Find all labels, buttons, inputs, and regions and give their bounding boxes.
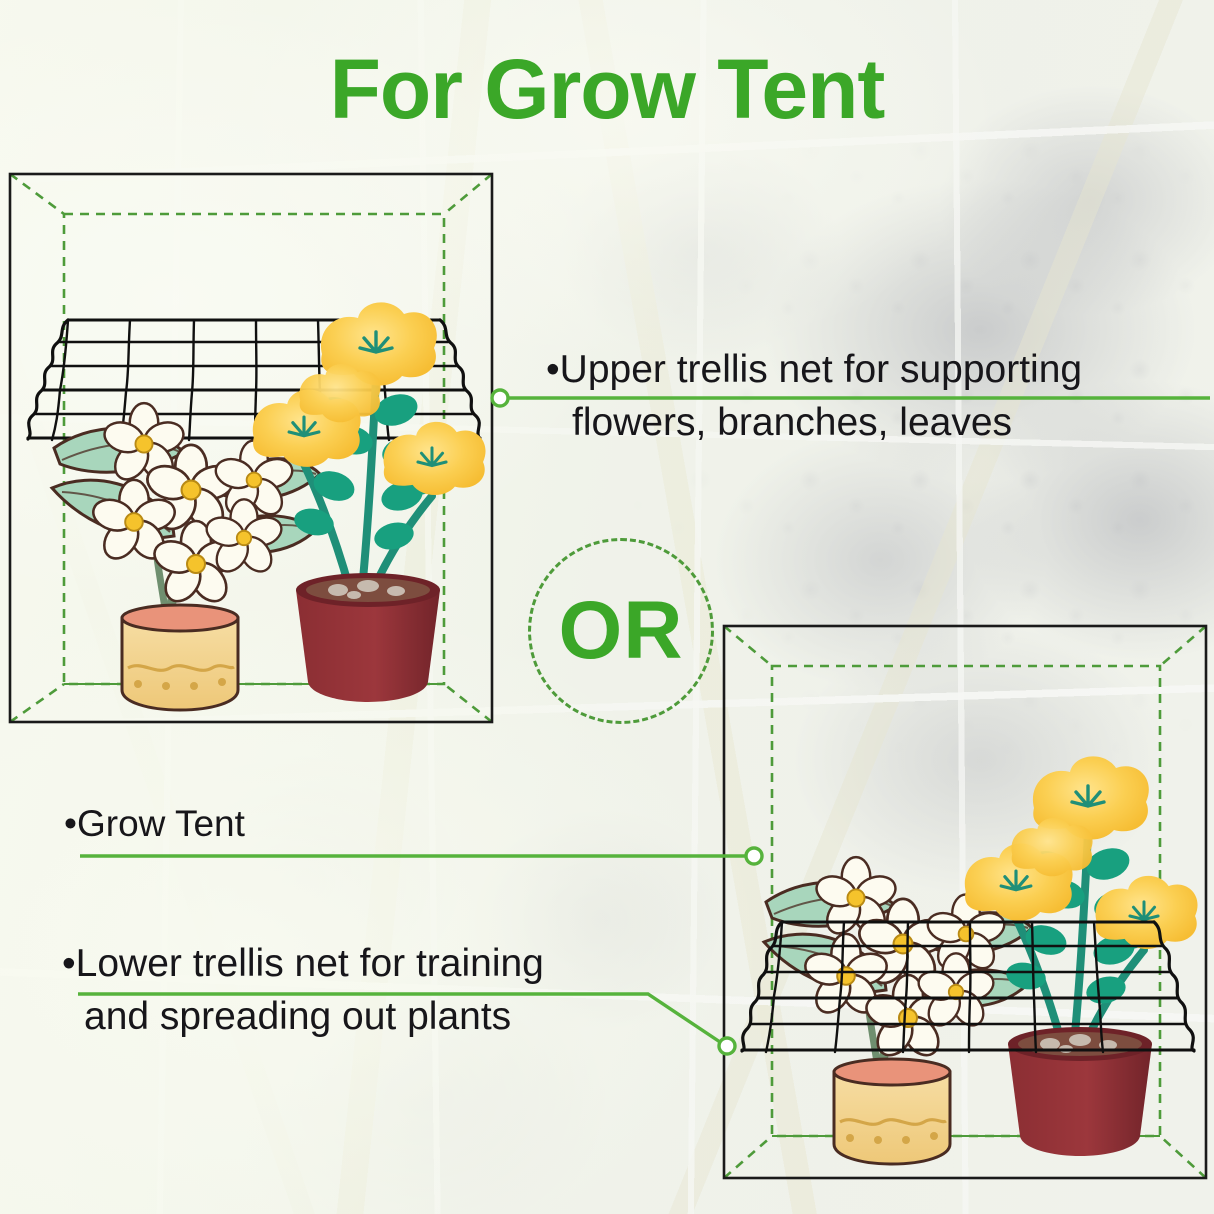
callout-tent-line1: •Grow Tent — [64, 800, 245, 848]
maroon-pot — [1008, 1027, 1152, 1156]
grow-tent-lower-net — [722, 622, 1214, 1188]
maroon-pot — [296, 573, 440, 702]
callout-upper-line2: flowers, branches, leaves — [546, 396, 1082, 449]
plant-yellow-blossoms — [965, 756, 1198, 1156]
or-label: OR — [559, 590, 684, 672]
grow-tent-upper-net — [8, 170, 500, 730]
plant-yellow-blossoms — [253, 302, 486, 702]
or-divider-badge: OR — [528, 538, 714, 724]
infographic-canvas: For Grow Tent — [0, 0, 1214, 1214]
callout-upper-trellis: •Upper trellis net for supporting flower… — [546, 343, 1082, 449]
callout-lower-line2: and spreading out plants — [62, 990, 544, 1043]
tan-patterned-pot — [834, 1059, 950, 1164]
bullet-dot-icon: • — [546, 348, 560, 391]
callout-lower-trellis: •Lower trellis net for training and spre… — [62, 937, 544, 1043]
callout-lower-line1: •Lower trellis net for training — [62, 937, 544, 990]
page-title: For Grow Tent — [0, 47, 1214, 131]
bullet-dot-icon: • — [64, 803, 77, 844]
bullet-dot-icon: • — [62, 942, 76, 985]
callout-upper-line1: •Upper trellis net for supporting — [546, 343, 1082, 396]
tan-patterned-pot — [122, 605, 238, 710]
callout-grow-tent: •Grow Tent — [64, 800, 245, 848]
